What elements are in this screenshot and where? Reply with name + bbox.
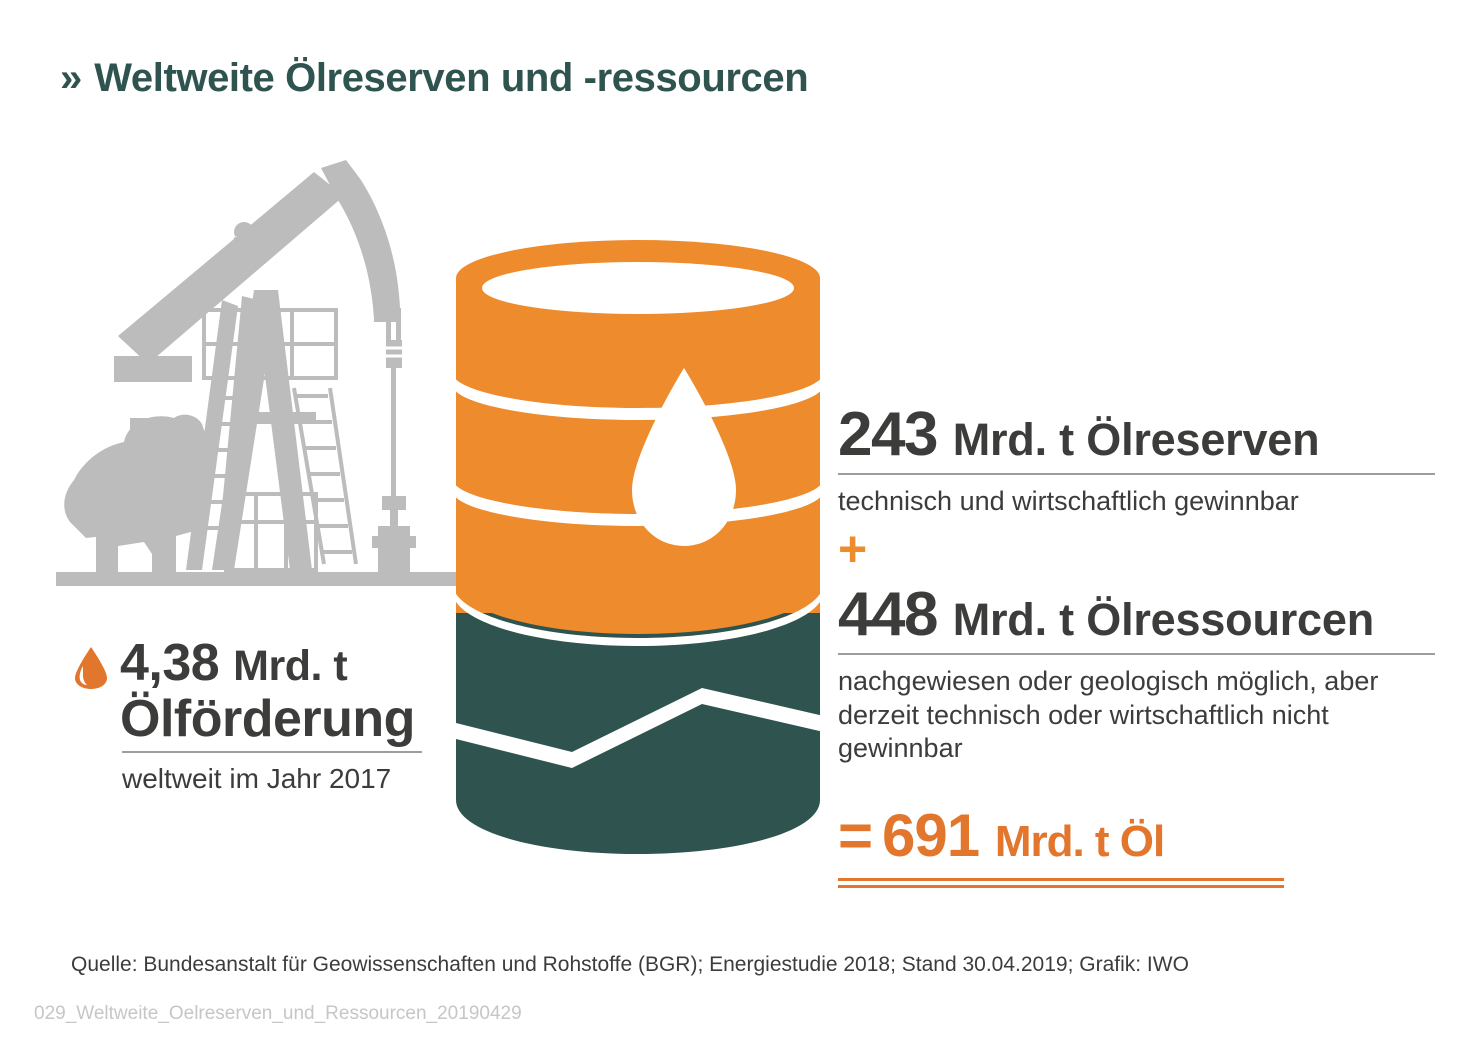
left-stat-value-block: 4,38 Mrd. t Ölförderung	[120, 636, 415, 747]
oil-pumpjack-icon	[56, 150, 486, 590]
reserves-headline: 243 Mrd. t Ölreserven	[838, 404, 1438, 466]
resources-value: 448	[838, 580, 937, 649]
reserves-unit: Mrd. t Ölreserven	[953, 414, 1320, 465]
page-title: Weltweite Ölreserven und -ressourcen	[94, 58, 808, 98]
double-chevron-icon: »	[60, 58, 80, 98]
oil-production-stat: 4,38 Mrd. t Ölförderung weltweit im Jahr…	[74, 636, 474, 796]
oil-resources-stat: 448 Mrd. t Ölressourcen nachgewiesen ode…	[838, 584, 1438, 765]
total-headline: =691 Mrd. t Öl	[838, 806, 1284, 866]
resources-subtext: nachgewiesen oder geologisch möglich, ab…	[838, 665, 1438, 765]
reserves-resources-column: 243 Mrd. t Ölreserven technisch und wirt…	[838, 404, 1438, 888]
resources-headline: 448 Mrd. t Ölressourcen	[838, 584, 1438, 646]
left-stat-divider	[122, 751, 422, 753]
equals-operator: =	[838, 802, 872, 869]
reserves-divider	[838, 473, 1435, 475]
left-stat-value: 4,38	[120, 634, 219, 692]
resources-divider	[838, 653, 1435, 655]
plus-operator: +	[838, 524, 1438, 574]
reserves-subtext: technisch und wirtschaftlich gewinnbar	[838, 485, 1438, 518]
total-divider-bottom	[838, 885, 1284, 888]
total-value: 691	[882, 802, 979, 869]
oil-barrel-icon	[452, 238, 824, 878]
oil-reserves-stat: 243 Mrd. t Ölreserven technisch und wirt…	[838, 404, 1438, 518]
left-stat-subtext: weltweit im Jahr 2017	[122, 762, 474, 796]
total-divider-top	[838, 878, 1284, 881]
left-stat-unit: Mrd. t	[233, 642, 347, 690]
left-stat-headline: 4,38 Mrd. t Ölförderung	[74, 636, 474, 747]
resources-unit: Mrd. t Ölressourcen	[953, 594, 1374, 645]
left-stat-label: Ölförderung	[120, 690, 415, 748]
source-note: Quelle: Bundesanstalt für Geowissenschaf…	[71, 953, 1189, 977]
oil-drop-icon	[74, 646, 108, 690]
oil-total-stat: =691 Mrd. t Öl	[838, 806, 1284, 888]
total-unit: Mrd. t Öl	[995, 817, 1164, 866]
reserves-value: 243	[838, 400, 937, 469]
page-header: » Weltweite Ölreserven und -ressourcen	[60, 58, 808, 98]
file-caption: 029_Weltweite_Oelreserven_und_Ressourcen…	[34, 1003, 522, 1025]
